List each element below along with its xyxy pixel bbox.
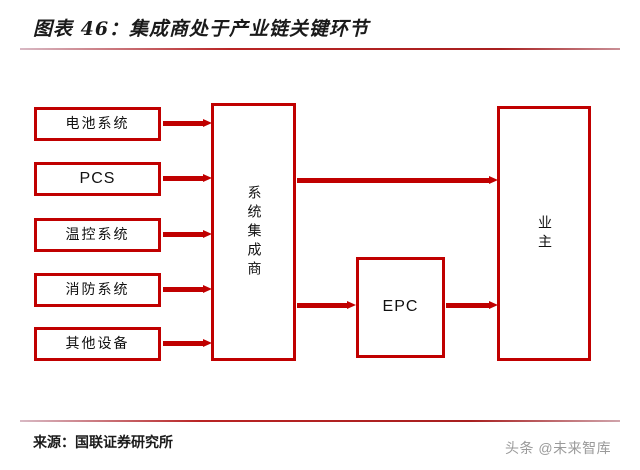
source-note: 来源：国联证券研究所	[33, 432, 173, 452]
footer-divider	[20, 420, 620, 422]
arrow-head-icon	[347, 301, 356, 309]
box-label: 温控系统	[66, 227, 130, 243]
arrow-integrator-to-owner	[297, 176, 498, 185]
upstream-box-battery-system[interactable]: 电池系统	[34, 107, 161, 141]
integrator-box-system-integrator[interactable]: 系统集成商	[211, 103, 296, 361]
arrow-shaft	[446, 303, 489, 308]
arrow-shaft	[163, 287, 203, 292]
arrow-other-to-integrator	[163, 339, 212, 348]
box-label: EPC	[383, 298, 419, 316]
arrow-shaft	[163, 176, 203, 181]
arrow-pcs-to-integrator	[163, 174, 212, 183]
owner-box[interactable]: 业主	[497, 106, 591, 361]
box-label: 电池系统	[66, 116, 130, 132]
figure-title: 图表 46：集成商处于产业链关键环节	[33, 14, 369, 41]
upstream-box-fire-protection-system[interactable]: 消防系统	[34, 273, 161, 307]
watermark: 头条 @未来智库	[505, 438, 611, 458]
upstream-box-thermal-control-system[interactable]: 温控系统	[34, 218, 161, 252]
arrow-thermal-to-integrator	[163, 230, 212, 239]
arrow-battery-to-integrator	[163, 119, 212, 128]
arrow-shaft	[297, 178, 489, 183]
box-label: 系统集成商	[247, 185, 261, 280]
arrow-epc-to-owner	[446, 301, 498, 310]
box-label: 消防系统	[66, 282, 130, 298]
upstream-box-pcs[interactable]: PCS	[34, 162, 161, 196]
box-label: PCS	[80, 170, 116, 188]
box-label: 业主	[537, 215, 551, 253]
upstream-box-other-equipment[interactable]: 其他设备	[34, 327, 161, 361]
figure-canvas: 图表 46：集成商处于产业链关键环节 电池系统 PCS 温控系统 消防系统 其他…	[0, 0, 640, 470]
arrow-shaft	[163, 121, 203, 126]
arrow-integrator-to-epc	[297, 301, 356, 310]
epc-box[interactable]: EPC	[356, 257, 445, 358]
box-label: 其他设备	[66, 336, 130, 352]
arrow-shaft	[163, 341, 203, 346]
arrow-fire-to-integrator	[163, 285, 212, 294]
arrow-shaft	[297, 303, 347, 308]
title-divider	[20, 48, 620, 50]
arrow-shaft	[163, 232, 203, 237]
